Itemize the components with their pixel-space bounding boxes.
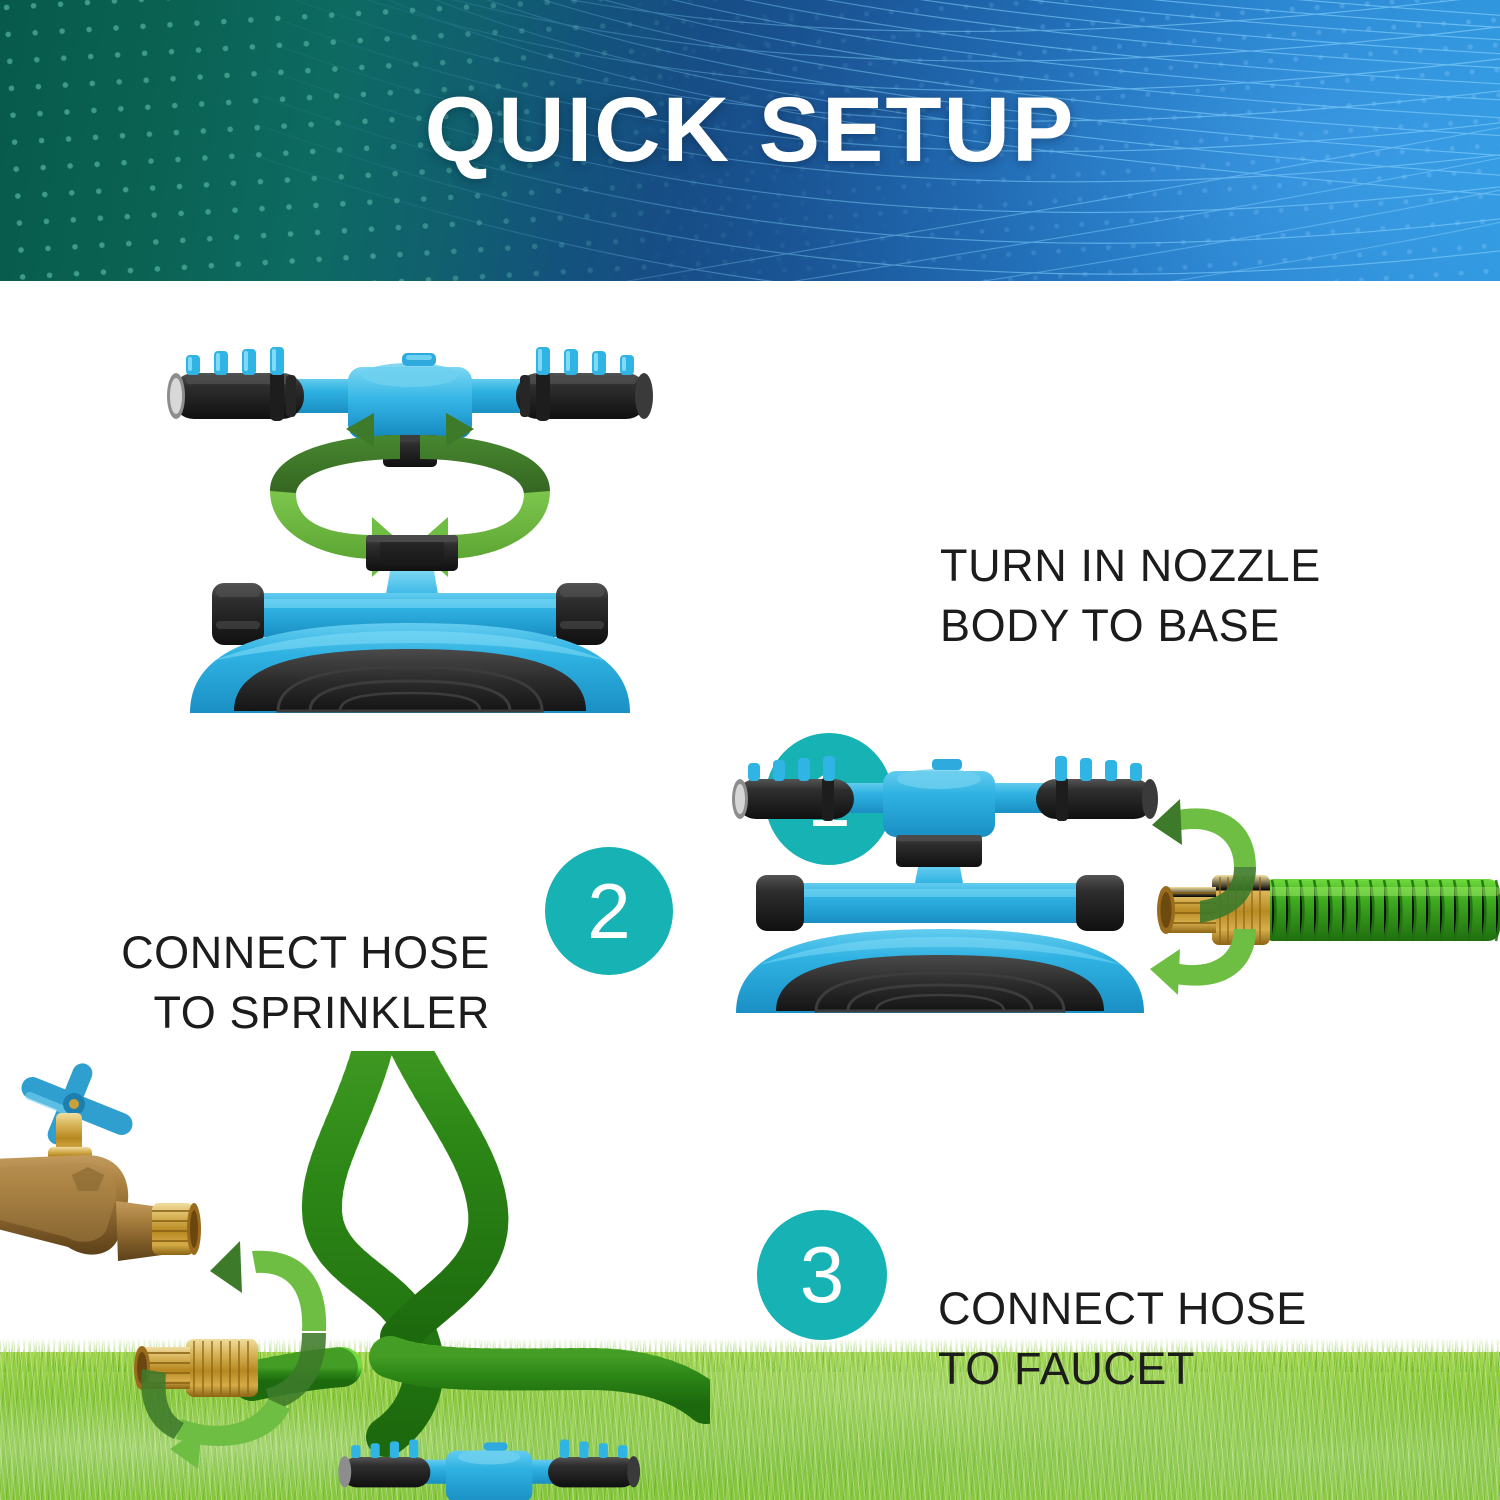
step-1-text: TURN IN NOZZLE BODY TO BASE: [940, 476, 1370, 656]
step-3-illustration: [0, 1051, 710, 1500]
nozzle-body: [167, 347, 653, 467]
expandable-hose-coil: [252, 1051, 706, 1437]
faucet: [0, 1060, 201, 1261]
sprinkler-assembled: [732, 756, 1158, 1013]
steps-canvas: 1 TURN IN NOZZLE BODY TO BASE 2 CONNECT …: [0, 281, 1500, 1500]
step-2-illustration: [700, 741, 1500, 1041]
header-banner: QUICK SETUP: [0, 0, 1500, 281]
step-3-number: 3: [800, 1235, 845, 1315]
step-2-number: 2: [587, 872, 630, 950]
nozzle-barrel-left: [732, 756, 854, 821]
nozzle-barrel-right: [516, 347, 653, 421]
nozzle-barrel-left: [167, 347, 304, 421]
sprinkler-base: [190, 535, 630, 713]
step-2-badge: 2: [545, 847, 673, 975]
step-1-illustration: [150, 331, 670, 731]
step-3-text: CONNECT HOSE TO FAUCET: [938, 1219, 1358, 1399]
nozzle-barrel-right: [1036, 756, 1158, 821]
step-3-badge: 3: [757, 1210, 887, 1340]
page-title: QUICK SETUP: [0, 80, 1500, 180]
step-2-text: CONNECT HOSE TO SPRINKLER: [60, 863, 490, 1043]
